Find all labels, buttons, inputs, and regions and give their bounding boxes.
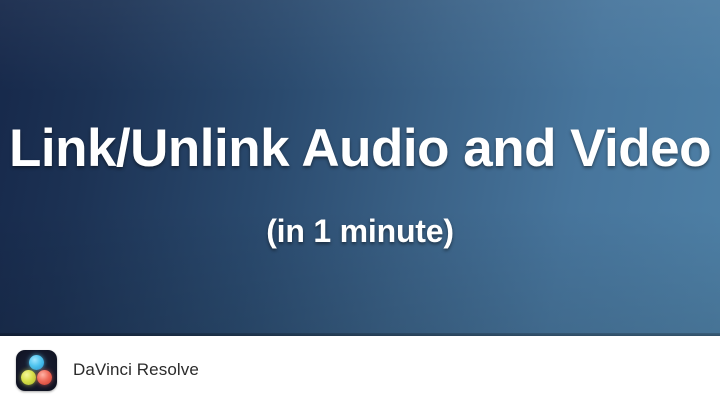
resolve-icon-yellow-dot — [21, 370, 36, 385]
title-card-screen: Link/Unlink Audio and Video (in 1 minute… — [0, 0, 720, 404]
resolve-icon-blue-dot — [29, 355, 44, 370]
app-name-label: DaVinci Resolve — [73, 360, 199, 380]
page-subtitle: (in 1 minute) — [0, 211, 720, 251]
hero-banner: Link/Unlink Audio and Video (in 1 minute… — [0, 0, 720, 336]
footer-bar: DaVinci Resolve — [0, 336, 720, 404]
davinci-resolve-icon — [16, 350, 57, 391]
resolve-icon-red-dot — [37, 370, 52, 385]
page-title: Link/Unlink Audio and Video — [0, 119, 720, 179]
